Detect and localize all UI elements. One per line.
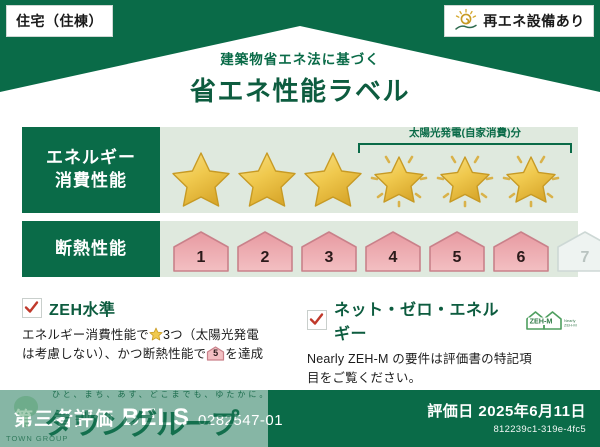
insulation-grade-value: 2: [234, 249, 296, 267]
insulation-grade-value: 5: [426, 249, 488, 267]
insulation-grade-value: 1: [170, 249, 232, 267]
insulation-grades-area: 1 2 3 4: [160, 221, 578, 277]
footer-certificate-number: 0282547-01: [198, 412, 283, 429]
zeh-standard-block: ZEH水準 エネルギー消費性能で3つ（太陽光発電 は考慮しない）、かつ断熱性能で…: [22, 296, 293, 376]
criteria-section: ZEH水準 エネルギー消費性能で3つ（太陽光発電 は考慮しない）、かつ断熱性能で…: [22, 296, 578, 376]
insulation-grade-list: 1 2 3 4: [170, 225, 572, 273]
insulation-grade-value: 7: [554, 249, 600, 267]
insulation-grade-badge: 4: [362, 229, 424, 273]
footer-date-info: 評価日 2025年6月11日 812239c1-319e-4fc5: [427, 400, 586, 435]
insulation-grade-badge: 2: [234, 229, 296, 273]
label-title-block: 建築物省エネ法に基づく 省エネ性能ラベル: [0, 48, 600, 108]
insulation-grade-value: 6: [490, 249, 552, 267]
zeh-standard-header: ZEH水準: [22, 296, 293, 320]
footer-evaluation-info: 第三者評価 BELS 0282547-01: [14, 404, 283, 432]
badge-building-type: 住宅（住棟）: [6, 5, 113, 37]
badge-building-type-label: 住宅（住棟）: [16, 11, 103, 31]
mini-insulation-badge: 5: [206, 346, 225, 361]
zeh-standard-title: ZEH水準: [49, 296, 116, 320]
badge-renewable-equipment: 再エネ設備あり: [444, 5, 594, 37]
title-subtitle: 建築物省エネ法に基づく: [0, 48, 600, 68]
insulation-grade-badge: 1: [170, 229, 232, 273]
performance-panel: エネルギー 消費性能 太陽光発電(自家消費)分: [22, 127, 578, 287]
svg-text:ZEH-M: ZEH-M: [564, 322, 577, 327]
svg-text:ZEH-M: ZEH-M: [530, 317, 553, 326]
zeh-m-logo: ZEH-M Nearly ZEH-M: [522, 308, 578, 332]
star-filled: [168, 147, 234, 209]
mini-star-icon: [149, 327, 163, 341]
energy-label-root: 住宅（住棟） 再エネ設備あり 建築物省エネ法に基づく 省エネ性能ラベル: [0, 0, 600, 447]
net-zero-text-line1: Nearly ZEH-M の要件は評価書の特記項: [307, 352, 532, 366]
net-zero-header: ネット・ゼロ・エネルギー ZEH-M Nearly ZEH-M: [307, 296, 578, 344]
label-footer: 第三者評価 BELS 0282547-01 評価日 2025年6月11日 812…: [0, 390, 600, 447]
net-zero-checkbox: [307, 310, 327, 330]
star-solar: [432, 147, 498, 209]
mini-insulation-value: 5: [206, 347, 225, 361]
star-rating: [168, 147, 574, 209]
solar-caption: 太陽光発電(自家消費)分: [358, 125, 572, 140]
star-filled: [234, 147, 300, 209]
energy-row-label-line1: エネルギー: [46, 147, 136, 170]
insulation-grade-badge: 6: [490, 229, 552, 273]
badge-renewable-label: 再エネ設備あり: [483, 11, 585, 31]
zeh-text-before-star: エネルギー消費性能で: [22, 328, 149, 342]
net-zero-energy-block: ネット・ゼロ・エネルギー ZEH-M Nearly ZEH-M Nearly Z…: [307, 296, 578, 376]
insulation-grade-value: 4: [362, 249, 424, 267]
insulation-grade-badge-inactive: 7: [554, 229, 600, 273]
title-main: 省エネ性能ラベル: [0, 71, 600, 108]
sun-renewable-icon: [453, 8, 479, 34]
net-zero-title: ネット・ゼロ・エネルギー: [334, 296, 509, 344]
insulation-grade-value: 3: [298, 249, 360, 267]
footer-eval-label: 第三者評価: [14, 404, 114, 431]
zeh-star-count-text: 3つ（太陽光発電: [163, 328, 259, 342]
energy-stars-area: 太陽光発電(自家消費)分: [160, 127, 578, 213]
zeh-text-line2-b: を達成: [225, 347, 263, 361]
insulation-row-label: 断熱性能: [22, 221, 160, 277]
star-solar: [366, 147, 432, 209]
energy-row-label: エネルギー 消費性能: [22, 127, 160, 213]
energy-row-label-line2: 消費性能: [55, 170, 127, 193]
net-zero-text-line2: 目をご覧ください。: [307, 371, 421, 385]
energy-performance-row: エネルギー 消費性能 太陽光発電(自家消費)分: [22, 127, 578, 213]
star-solar: [498, 147, 564, 209]
footer-evaluation-date: 評価日 2025年6月11日: [427, 400, 586, 421]
insulation-grade-badge: 5: [426, 229, 488, 273]
insulation-row-label-text: 断熱性能: [55, 238, 127, 261]
footer-hash-id: 812239c1-319e-4fc5: [427, 424, 586, 435]
star-filled: [300, 147, 366, 209]
zeh-standard-text: エネルギー消費性能で3つ（太陽光発電 は考慮しない）、かつ断熱性能で5を達成: [22, 326, 293, 365]
net-zero-text: Nearly ZEH-M の要件は評価書の特記項 目をご覧ください。: [307, 350, 578, 389]
insulation-grade-badge: 3: [298, 229, 360, 273]
footer-bels-label: BELS: [122, 404, 190, 432]
insulation-performance-row: 断熱性能 1 2: [22, 221, 578, 277]
zeh-text-line2-a: は考慮しない）、かつ断熱性能で: [22, 347, 206, 361]
zeh-standard-checkbox: [22, 298, 42, 318]
